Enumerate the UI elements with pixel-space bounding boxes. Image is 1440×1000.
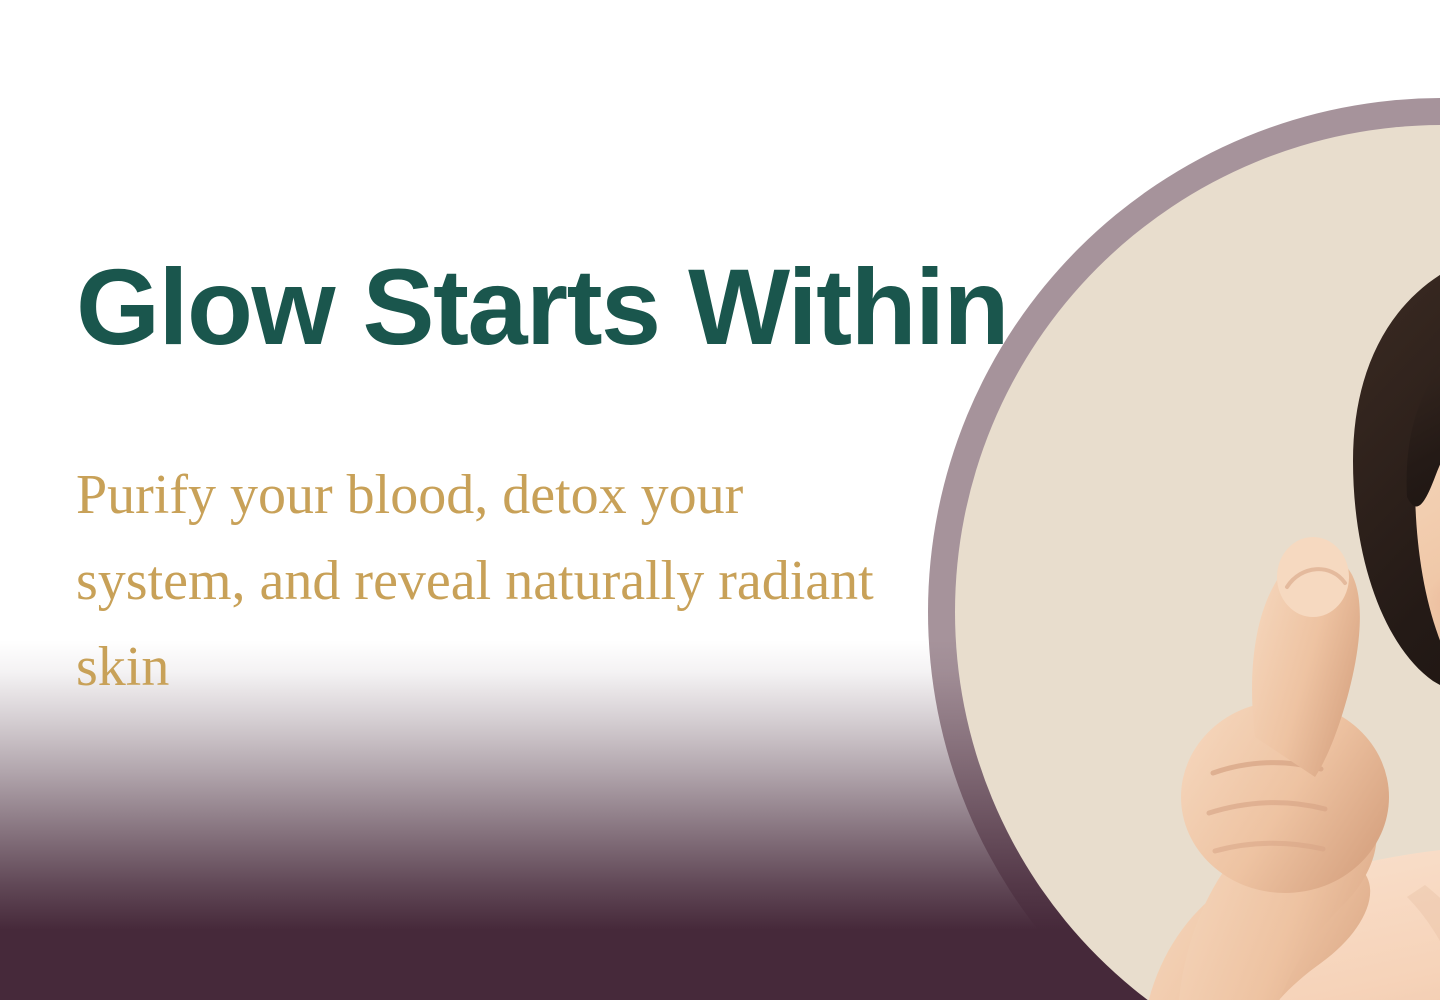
promo-banner: Glow Starts Within Purify your blood, de… — [0, 0, 1440, 1000]
beige-portrait-circle — [955, 125, 1440, 1000]
woman-thumbs-up-illustration — [955, 125, 1440, 1000]
page-title: Glow Starts Within — [76, 250, 1008, 364]
subtitle-text: Purify your blood, detox your system, an… — [76, 452, 906, 710]
